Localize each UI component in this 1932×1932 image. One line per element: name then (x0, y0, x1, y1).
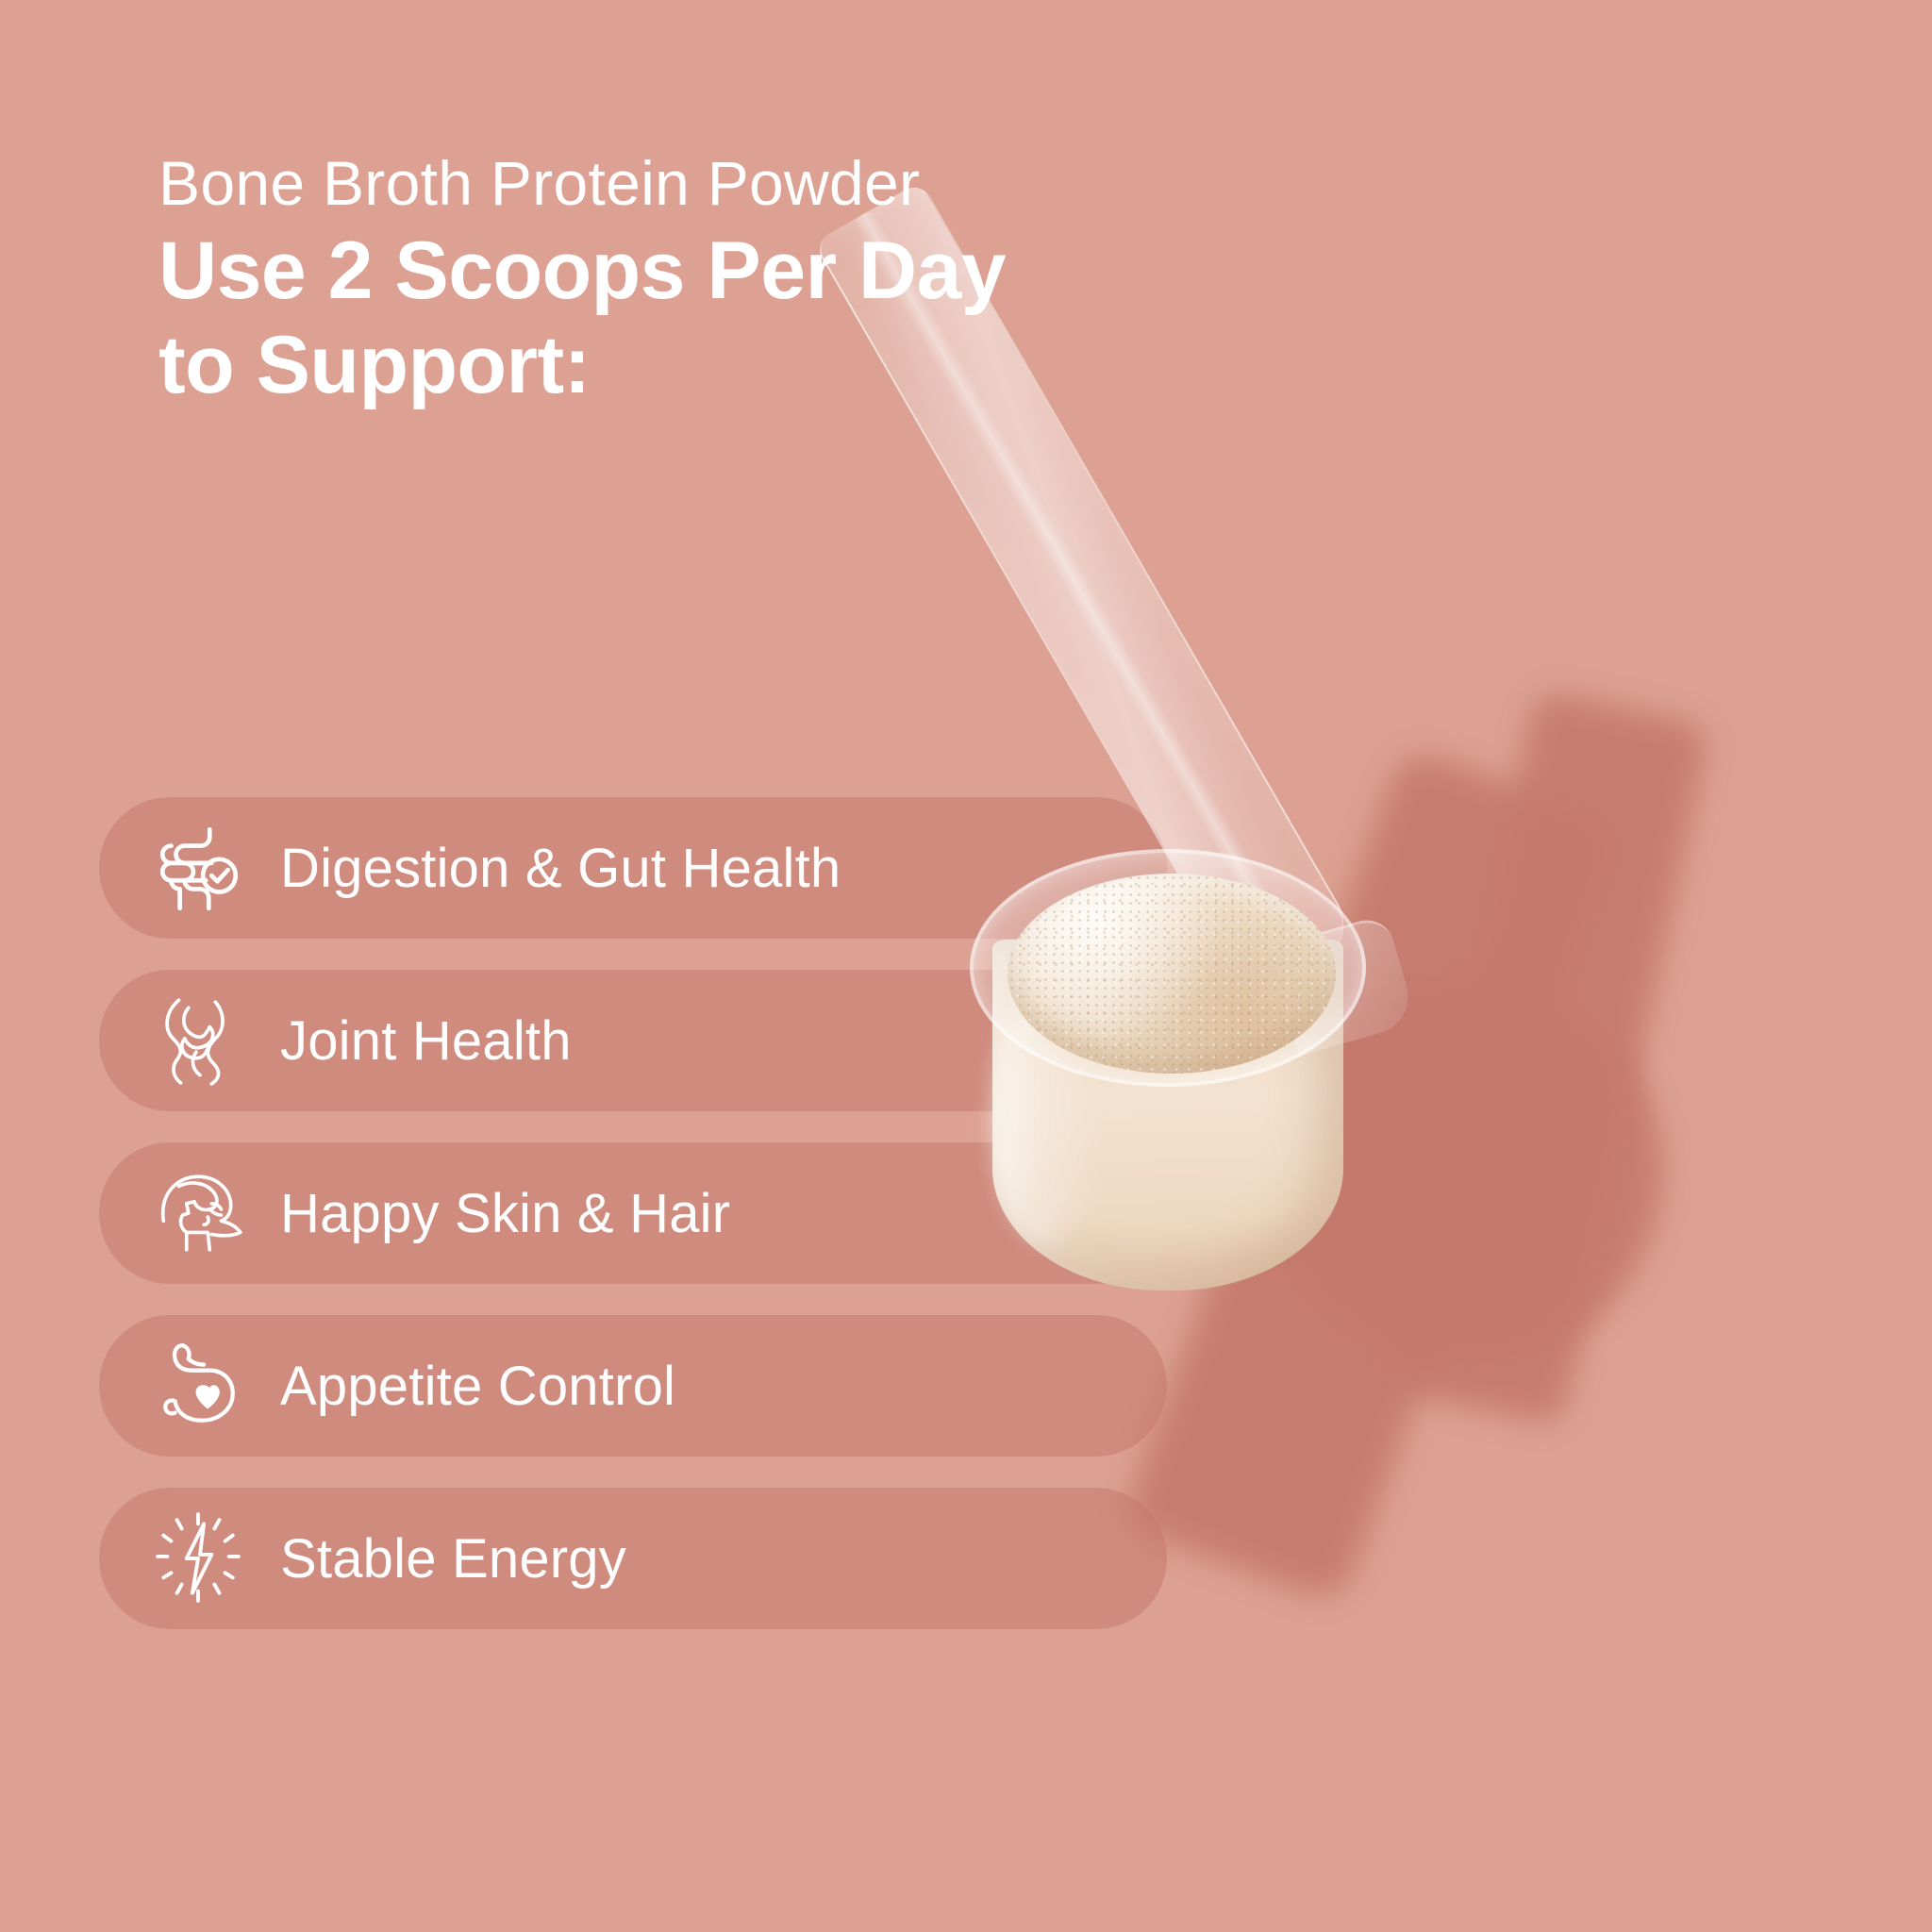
benefit-pill-joint[interactable]: Joint Health (99, 970, 1167, 1111)
headline-block: Bone Broth Protein Powder Use 2 Scoops P… (158, 151, 1498, 412)
lightning-burst-icon (137, 1488, 259, 1629)
stomach-heart-icon (137, 1315, 259, 1457)
headline-line-2: to Support: (158, 319, 1441, 413)
page-title: Use 2 Scoops Per Day to Support: (158, 225, 1441, 413)
headline-line-1: Use 2 Scoops Per Day (158, 225, 1441, 319)
face-hair-profile-icon (137, 1142, 259, 1284)
benefit-label-skin-hair: Happy Skin & Hair (280, 1182, 730, 1245)
eyebrow-text: Bone Broth Protein Powder (158, 151, 1498, 217)
benefit-pill-appetite[interactable]: Appetite Control (99, 1315, 1167, 1457)
benefit-label-joint: Joint Health (280, 1009, 572, 1073)
intestine-check-icon (137, 797, 259, 939)
benefit-pill-digestion[interactable]: Digestion & Gut Health (99, 797, 1167, 939)
scoop-cup-neck (1268, 913, 1417, 1056)
benefit-label-appetite: Appetite Control (280, 1355, 675, 1418)
benefit-label-digestion: Digestion & Gut Health (280, 837, 841, 900)
scoop-shadow-handle (1120, 745, 1625, 1606)
scoop-shadow-bowl (1257, 972, 1663, 1368)
promo-graphic-canvas: Bone Broth Protein Powder Use 2 Scoops P… (0, 0, 1932, 1932)
joint-bone-icon (137, 970, 259, 1111)
scoop-shadow-handle-secondary (1387, 689, 1711, 1427)
benefit-label-energy: Stable Energy (280, 1527, 626, 1591)
benefits-list: Digestion & Gut Health Joint Health (99, 797, 1167, 1629)
benefit-pill-skin-hair[interactable]: Happy Skin & Hair (99, 1142, 1167, 1284)
benefit-pill-energy[interactable]: Stable Energy (99, 1488, 1167, 1629)
